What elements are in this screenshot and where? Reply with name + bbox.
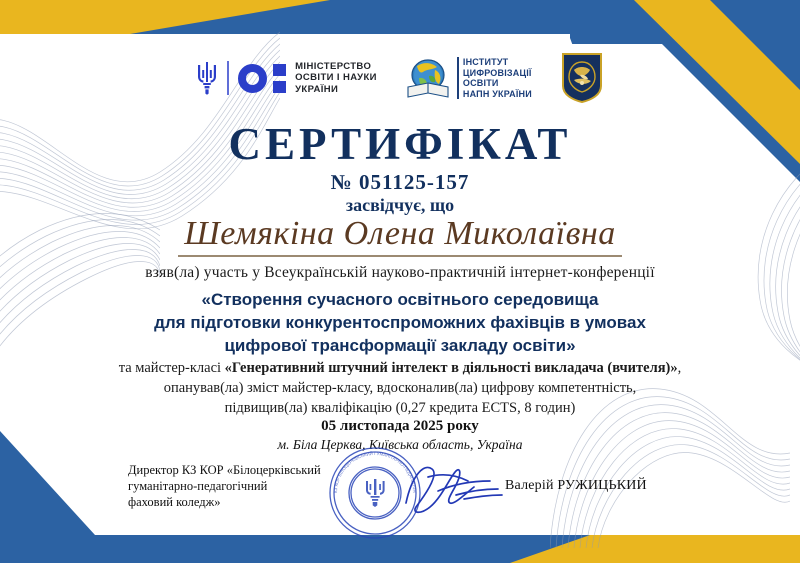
attests-label: засвідчує, що [0, 195, 800, 216]
ukraine-trident-emblem [196, 61, 218, 95]
top-left-yellow-wedge [0, 0, 420, 34]
institute-text-line-1: ІНСТИТУТ [463, 57, 532, 68]
institute-logo-text: ІНСТИТУТ ЦИФРОВІЗАЦІЇ ОСВІТИ НАПН УКРАЇН… [457, 57, 532, 99]
masterclass-line-1: та майстер-класі «Генеративний штучний і… [0, 358, 800, 378]
recipient-name-row: Шемякіна Олена Миколаївна [0, 215, 800, 257]
ministry-text-line-2: ОСВІТИ І НАУКИ [295, 72, 377, 84]
masterclass-block: та майстер-класі «Генеративний штучний і… [0, 358, 800, 418]
mon-squares-shape [273, 64, 286, 93]
top-blue-band [0, 0, 800, 34]
mon-ring-shape [238, 64, 267, 93]
institute-logo: ІНСТИТУТ ЦИФРОВІЗАЦІЇ ОСВІТИ НАПН УКРАЇН… [405, 56, 532, 100]
ministry-text-line-3: УКРАЇНИ [295, 84, 377, 96]
certificate-page: МІНІСТЕРСТВО ОСВІТИ І НАУКИ УКРАЇНИ ІНСТ… [0, 0, 800, 563]
certificate-number: № 051125-157 [0, 170, 800, 195]
ministry-logo: МІНІСТЕРСТВО ОСВІТИ І НАУКИ УКРАЇНИ [196, 61, 377, 96]
signer-name: Валерій РУЖИЦЬКИЙ [505, 478, 647, 494]
participation-line: взяв(ла) участь у Всеукраїнській науково… [0, 264, 800, 282]
globe-book-emblem [405, 56, 451, 100]
institute-text-line-4: НАПН УКРАЇНИ [463, 89, 532, 100]
conference-title-line-1: «Створення сучасного освітнього середови… [0, 288, 800, 311]
masterclass-title: «Генеративний штучний інтелект в діяльно… [225, 360, 678, 376]
masterclass-line-2: опанував(ла) зміст майстер-класу, вдоско… [0, 378, 800, 398]
issue-date: 05 листопада 2025 року [0, 418, 800, 435]
page-title: СЕРТИФІКАТ [0, 118, 800, 170]
ministry-logo-text: МІНІСТЕРСТВО ОСВІТИ І НАУКИ УКРАЇНИ [295, 61, 377, 96]
logo-divider [227, 61, 229, 95]
institute-text-line-2: ЦИФРОВІЗАЦІЇ [463, 68, 532, 79]
conference-title-line-3: цифрової трансформації закладу освіти» [0, 334, 800, 357]
masterclass-line-3: підвищив(ла) кваліфікацію (0,27 кредита … [0, 398, 800, 418]
college-shield-emblem [560, 52, 604, 104]
conference-title-line-2: для підготовки конкурентоспроможних фахі… [0, 311, 800, 334]
institute-text-line-3: ОСВІТИ [463, 78, 532, 89]
mon-o-colon-mark [238, 64, 286, 93]
conference-title: «Створення сучасного освітнього середови… [0, 288, 800, 357]
ministry-text-line-1: МІНІСТЕРСТВО [295, 61, 377, 73]
header-logos: МІНІСТЕРСТВО ОСВІТИ І НАУКИ УКРАЇНИ ІНСТ… [0, 47, 800, 109]
recipient-name: Шемякіна Олена Миколаївна [178, 215, 622, 257]
